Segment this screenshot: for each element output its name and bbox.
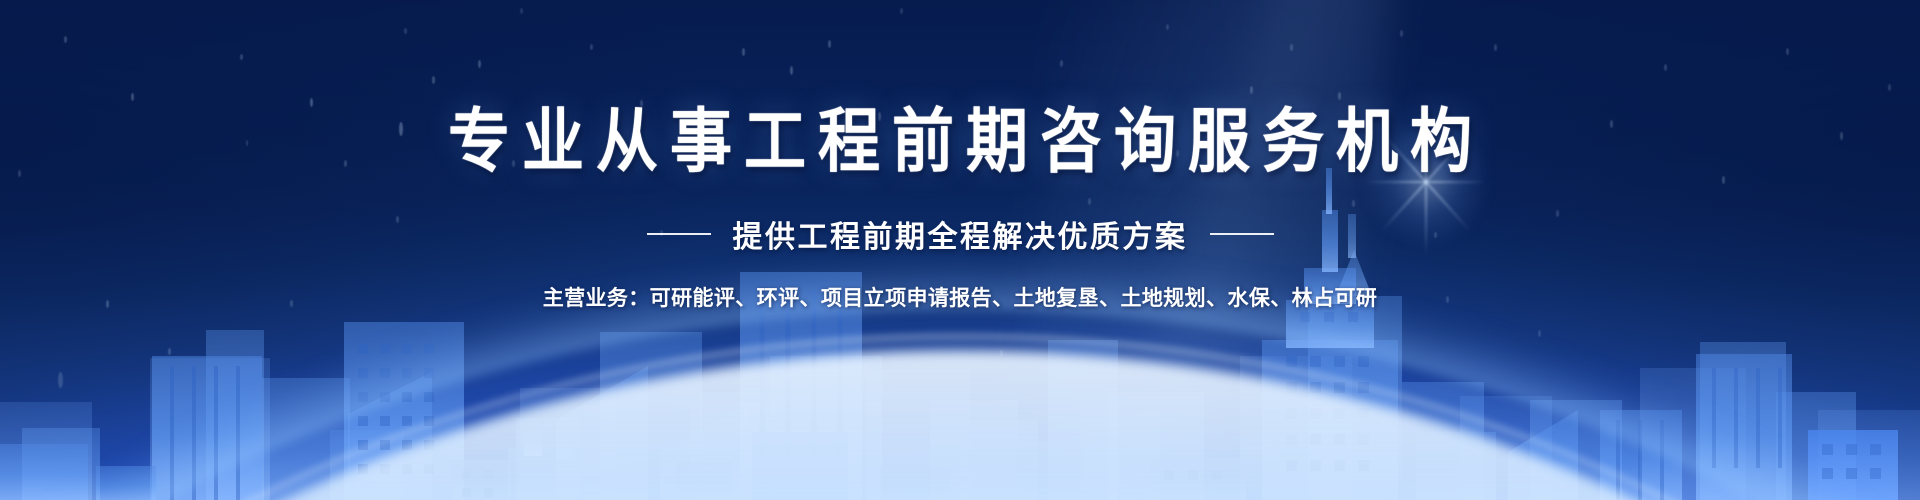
rule-left-icon bbox=[647, 233, 711, 235]
banner-subtitle: 提供工程前期全程解决优质方案 bbox=[733, 212, 1188, 256]
banner-content: 专业从事工程前期咨询服务机构 提供工程前期全程解决优质方案 主营业务：可研能评、… bbox=[0, 0, 1920, 312]
subtitle-row: 提供工程前期全程解决优质方案 bbox=[0, 212, 1920, 256]
hero-banner: 专业从事工程前期咨询服务机构 提供工程前期全程解决优质方案 主营业务：可研能评、… bbox=[0, 0, 1920, 500]
page-title: 专业从事工程前期咨询服务机构 bbox=[0, 108, 1920, 177]
business-scope-line: 主营业务：可研能评、环评、项目立项申请报告、土地复垦、土地规划、水保、林占可研 bbox=[0, 282, 1920, 312]
rule-right-icon bbox=[1210, 233, 1274, 235]
